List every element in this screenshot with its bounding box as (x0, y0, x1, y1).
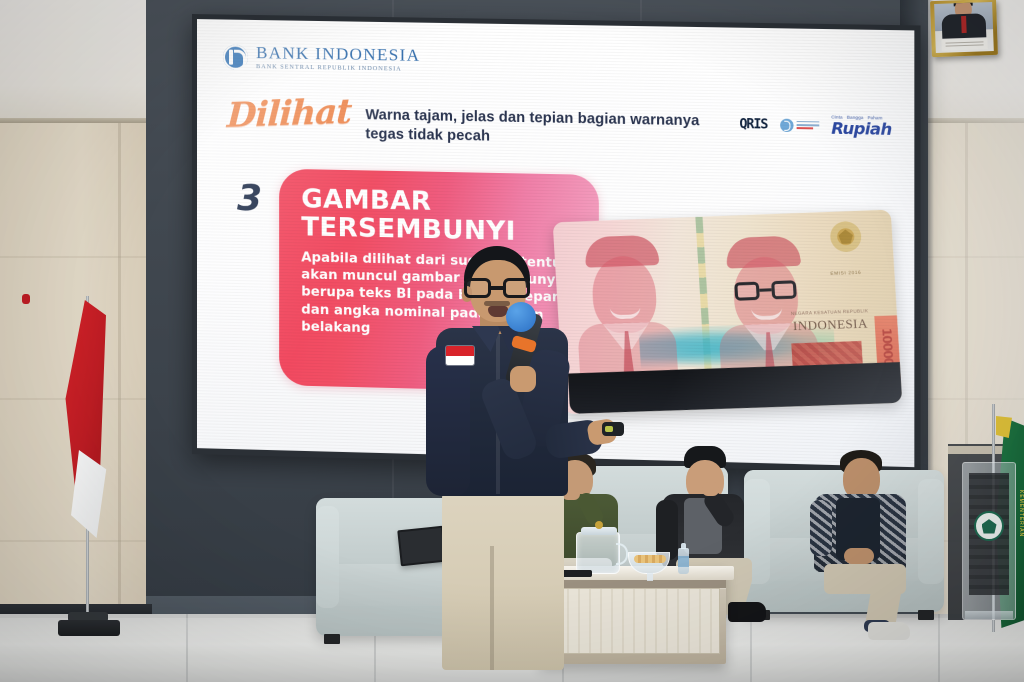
banknote-emission: EMISI 2016 (830, 270, 861, 276)
presentation-clicker (602, 422, 624, 436)
slide-heading-row: Dilihat Warna tajam, jelas dan tepian ba… (227, 96, 890, 154)
garuda-emblem-icon (829, 221, 862, 253)
framed-portrait (930, 0, 998, 57)
banknote-country: INDONESIA (786, 316, 875, 334)
slide-tagline: Warna tajam, jelas dan tepian bagian war… (365, 106, 700, 150)
left-hand (510, 366, 536, 392)
brand-name: BANK INDONESIA (256, 44, 420, 64)
glasses-icon (464, 278, 530, 298)
flag-knot (22, 294, 30, 304)
bank-indonesia-logo-icon (223, 44, 248, 69)
water-bottle (678, 548, 689, 574)
institution-emblem-icon (974, 511, 1004, 541)
lectern (962, 462, 1016, 620)
microphone-icon (506, 302, 536, 332)
mouth (488, 306, 508, 317)
clasped-hands (844, 548, 874, 564)
trousers (442, 490, 564, 670)
sneaker (868, 622, 910, 640)
seminar-hall-scene: BANK INDONESIA BANK SENTRAL REPUBLIK IND… (0, 0, 1024, 682)
flag-white-band (64, 450, 108, 538)
bank-indonesia-logo: BANK INDONESIA BANK SENTRAL REPUBLIK IND… (223, 44, 420, 73)
lectern-base (965, 611, 1013, 619)
hand (702, 482, 719, 496)
section-script-heading: Dilihat (226, 95, 352, 133)
left-arm (810, 500, 832, 556)
card-title-line2: TERSEMBUNYI (301, 213, 578, 247)
left-arm (656, 500, 678, 560)
left-arm (426, 346, 470, 496)
step-number: 3 (237, 178, 262, 220)
right-arm (884, 500, 906, 556)
portrait-image (934, 2, 994, 53)
glasses-icon (734, 280, 797, 300)
portrait-tie (961, 16, 967, 33)
trouser-seam (490, 546, 494, 670)
audience-member-3 (812, 450, 930, 640)
shoe (728, 602, 766, 622)
presenter (418, 246, 608, 676)
indonesian-flag-icon (62, 300, 106, 532)
portrait-nameplate (941, 38, 987, 51)
brand-subtitle: BANK SENTRAL REPUBLIK INDONESIA (256, 63, 420, 73)
flag-stand-base (58, 620, 120, 636)
indonesian-flag-patch-icon (446, 346, 474, 365)
